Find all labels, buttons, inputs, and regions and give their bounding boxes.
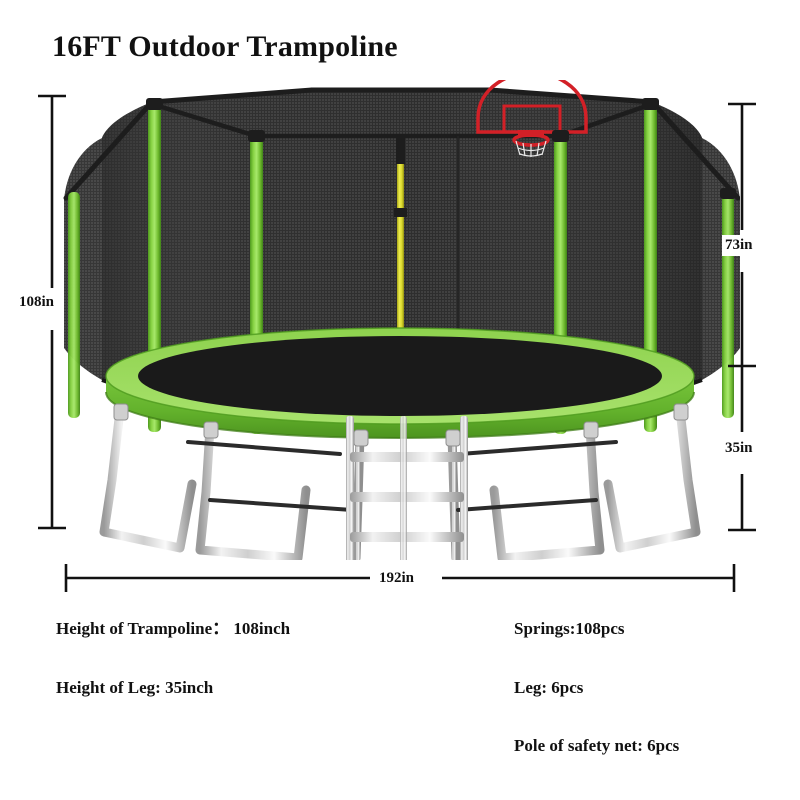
spec-height-of-leg: Height of Leg: 35inch — [56, 679, 476, 698]
product-spec-sheet: 16FT Outdoor Trampoline — [0, 0, 800, 800]
spec-legs: Leg: 6pcs — [514, 679, 794, 698]
dimension-label-leg-height: 35in — [722, 438, 756, 459]
spec-springs: Springs:108pcs — [514, 620, 794, 639]
spec-poles: Pole of safety net: 6pcs — [514, 737, 794, 756]
dimension-label-net-height: 73in — [722, 235, 756, 256]
spec-height-of-trampoline: Height of Trampoline： 108inch — [56, 620, 476, 639]
spec-column-left: Height of Trampoline： 108inch Height of … — [56, 620, 476, 737]
dimension-label-diameter: 192in — [376, 568, 417, 589]
dimension-label-height: 108in — [16, 292, 57, 313]
spec-column-right: Springs:108pcs Leg: 6pcs Pole of safety … — [514, 620, 794, 796]
